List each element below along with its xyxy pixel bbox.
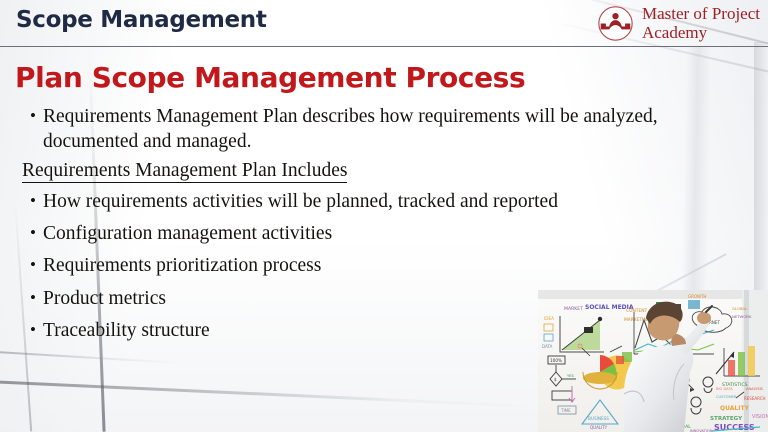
list-item: • Requirements prioritization process (0, 253, 740, 278)
list-item: • Configuration management activities (0, 221, 740, 246)
list-item-text: How requirements activities will be plan… (43, 189, 740, 214)
svg-text:MARKET: MARKET (564, 306, 583, 312)
svg-text:IDEA: IDEA (544, 316, 554, 321)
svg-text:QUALITY: QUALITY (590, 425, 608, 430)
list-item: • How requirements activities will be pl… (0, 189, 740, 214)
svg-text:STRATEGY: STRATEGY (710, 416, 743, 422)
header-divider (0, 46, 768, 47)
bullet-glyph-icon: • (30, 286, 43, 310)
svg-text:VISION: VISION (752, 414, 768, 420)
background-glass-panel-right-2 (754, 42, 768, 298)
svg-text:GLOBAL: GLOBAL (732, 306, 748, 311)
brand-logo-line-1: Master of Project (642, 5, 760, 23)
page-title: Plan Scope Management Process (15, 61, 525, 94)
svg-text:TIME: TIME (560, 408, 571, 413)
brand-logo-line-2: Academy (642, 24, 760, 42)
svg-text:CONTENT: CONTENT (626, 308, 648, 314)
list-item-intro: • Requirements Management Plan describes… (0, 104, 740, 155)
svg-text:ANALYSIS: ANALYSIS (746, 387, 764, 391)
bullet-glyph-icon: • (30, 221, 43, 245)
svg-text:CUSTOMER: CUSTOMER (716, 395, 737, 399)
bullet-glyph-icon: • (30, 253, 43, 277)
header-title: Scope Management (16, 7, 267, 33)
svg-text:BIG DATA: BIG DATA (716, 387, 733, 391)
svg-text:GROWTH: GROWTH (688, 294, 706, 299)
svg-text:100%: 100% (550, 358, 562, 363)
bullet-glyph-icon: • (30, 318, 43, 342)
bullet-glyph-icon: • (30, 104, 43, 128)
brand-logo: Master of Project Academy (597, 5, 760, 42)
svg-text:BUSINESS: BUSINESS (588, 416, 609, 421)
svg-text:NETWORK: NETWORK (732, 314, 752, 319)
brand-logo-text: Master of Project Academy (642, 5, 760, 41)
list-item-text: Requirements Management Plan describes h… (43, 104, 740, 155)
background-window-frame-horizontal-1 (0, 379, 530, 407)
svg-text:QUALITY: QUALITY (720, 405, 750, 412)
circle-person-logo-icon (597, 5, 634, 42)
section-subheading-text: Requirements Management Plan Includes (22, 160, 347, 183)
bullet-glyph-icon: • (30, 189, 43, 213)
section-subheading: Requirements Management Plan Includes (0, 160, 740, 182)
slide-canvas: Scope Management Master of Project Acade… (0, 0, 768, 432)
svg-text:YES: YES (567, 374, 574, 378)
svg-text:RESEARCH: RESEARCH (744, 396, 766, 401)
background-window-frame-horizontal-2 (0, 350, 180, 364)
svg-text:DATA: DATA (542, 344, 553, 349)
list-item-text: Requirements prioritization process (43, 253, 740, 278)
list-item-text: Configuration management activities (43, 221, 740, 246)
whiteboard-photo: MARKET SOCIAL MEDIA CONTENT MARKETING ID… (538, 290, 768, 432)
